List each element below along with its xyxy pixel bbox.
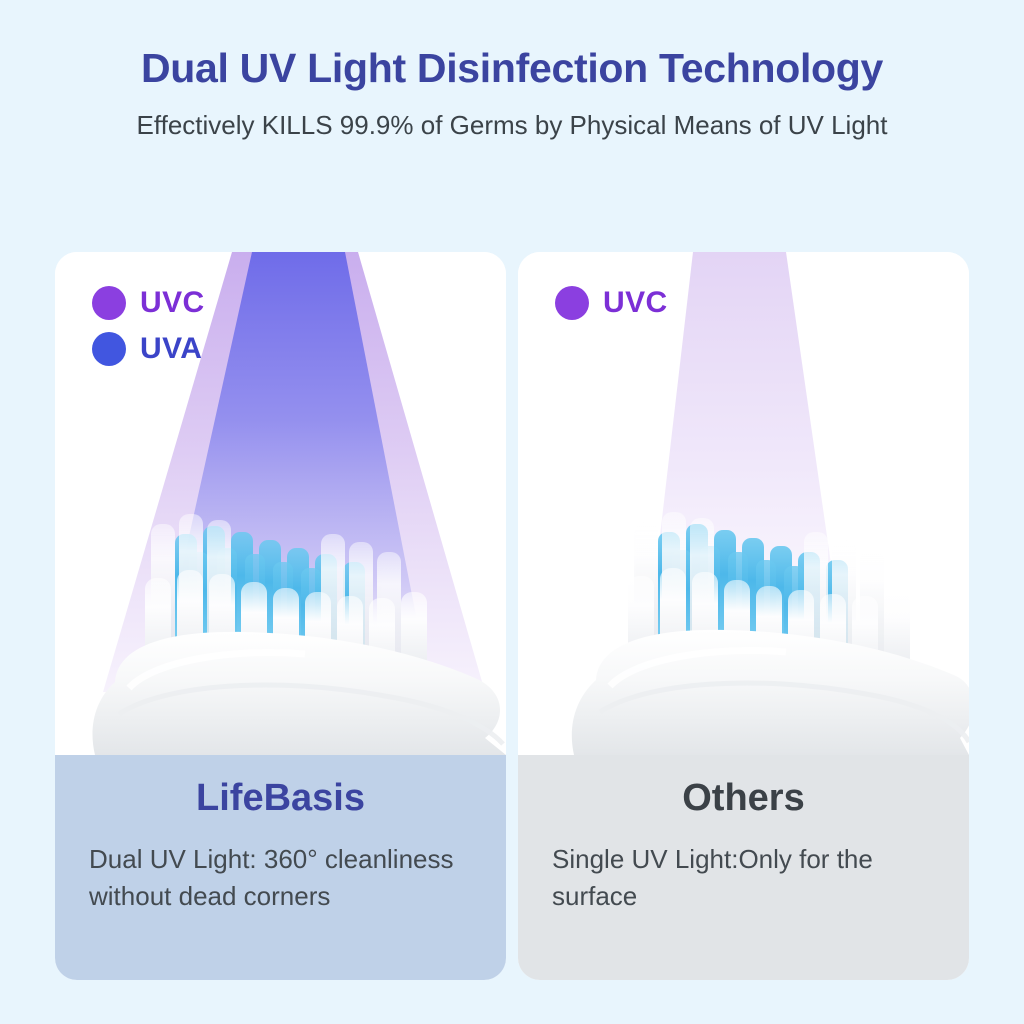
uva-dot-icon — [92, 332, 126, 366]
legend-item-uva: UVA — [92, 332, 205, 366]
legend-item-uvc: UVC — [555, 286, 668, 320]
legend-label-uva: UVA — [140, 332, 202, 366]
legend-label-uvc: UVC — [140, 286, 205, 320]
page-header: Dual UV Light Disinfection Technology Ef… — [0, 0, 1024, 144]
comparison-card-others: UVC Others Single UV Light:Only for the … — [518, 252, 969, 980]
uvc-dot-icon — [92, 286, 126, 320]
caption-title-others: Others — [552, 777, 935, 821]
page-title: Dual UV Light Disinfection Technology — [0, 46, 1024, 92]
legend-others: UVC — [555, 286, 668, 332]
uvc-dot-icon — [555, 286, 589, 320]
brush-head-body — [92, 632, 506, 755]
caption-title-lifebasis: LifeBasis — [89, 777, 472, 821]
legend-label-uvc: UVC — [603, 286, 668, 320]
comparison-cards: UVC UVA LifeBasis Dual UV Light: 360° cl… — [55, 252, 969, 980]
caption-lifebasis: LifeBasis Dual UV Light: 360° cleanlines… — [55, 755, 506, 980]
legend-item-uvc: UVC — [92, 286, 205, 320]
page-subtitle: Effectively KILLS 99.9% of Germs by Phys… — [0, 108, 1024, 144]
uv-scene-lifebasis: UVC UVA — [55, 252, 506, 755]
caption-body-lifebasis: Dual UV Light: 360° cleanliness without … — [89, 841, 472, 915]
caption-others: Others Single UV Light:Only for the surf… — [518, 755, 969, 980]
uv-scene-others: UVC — [518, 252, 969, 755]
caption-body-others: Single UV Light:Only for the surface — [552, 841, 935, 915]
legend-lifebasis: UVC UVA — [92, 286, 205, 378]
comparison-card-lifebasis: UVC UVA LifeBasis Dual UV Light: 360° cl… — [55, 252, 506, 980]
